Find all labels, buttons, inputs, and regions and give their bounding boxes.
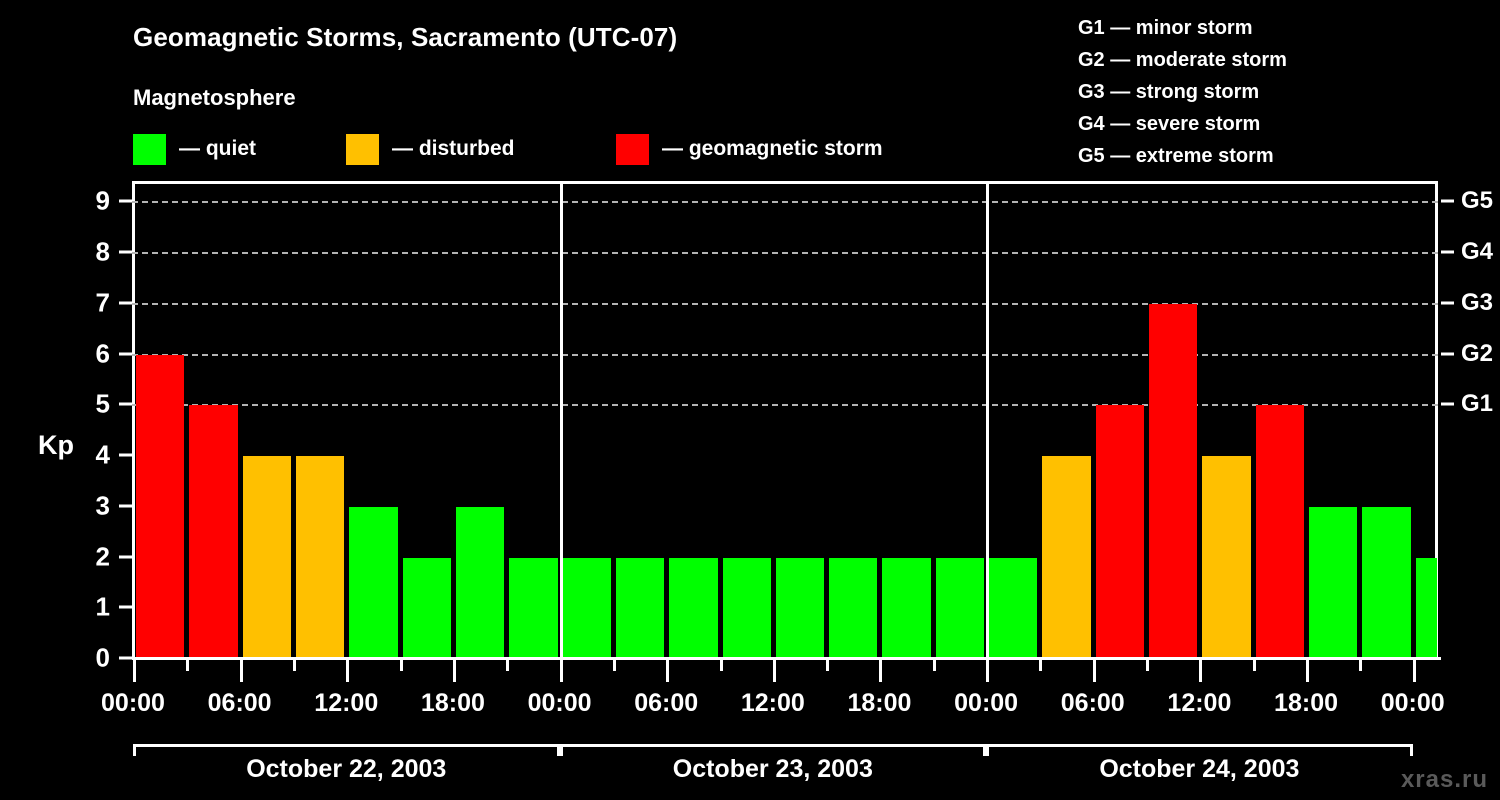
storm-scale-g5: G5 — extreme storm: [1078, 140, 1287, 172]
y-tick-8: [119, 251, 132, 254]
geomagnetic-storm-chart: Geomagnetic Storms, Sacramento (UTC-07) …: [0, 0, 1500, 800]
legend-item-quiet: — quiet: [133, 133, 256, 165]
legend-label-quiet: — quiet: [179, 137, 256, 161]
bar[interactable]: [1202, 456, 1250, 659]
x-tick: [240, 657, 243, 682]
g-axis-label-G3: G3: [1461, 289, 1493, 317]
green-swatch: [133, 134, 166, 165]
bar[interactable]: [616, 558, 664, 659]
bar[interactable]: [243, 456, 291, 659]
x-tick-label: 00:00: [528, 689, 592, 718]
bar[interactable]: [349, 507, 397, 659]
plot-area: [132, 181, 1438, 659]
bar[interactable]: [456, 507, 504, 659]
bar[interactable]: [936, 558, 984, 659]
bar-series: [132, 181, 1438, 659]
x-tick: [453, 657, 456, 682]
x-tick: [1359, 657, 1362, 671]
g-axis-label-G4: G4: [1461, 238, 1493, 266]
day-label: October 22, 2003: [133, 755, 560, 784]
y-tick-6: [119, 352, 132, 355]
storm-scale-g2: G2 — moderate storm: [1078, 44, 1287, 76]
x-axis-line: [132, 657, 1441, 660]
legend-label-disturbed: — disturbed: [392, 137, 515, 161]
x-tick-label: 00:00: [101, 689, 165, 718]
bar[interactable]: [1362, 507, 1410, 659]
bar[interactable]: [669, 558, 717, 659]
x-tick-label: 18:00: [1274, 689, 1338, 718]
y-tick-1: [119, 606, 132, 609]
y-tick-2: [119, 555, 132, 558]
storm-scale-g1: G1 — minor storm: [1078, 12, 1287, 44]
day-label: October 24, 2003: [986, 755, 1413, 784]
bar[interactable]: [1149, 304, 1197, 659]
y-tick-3: [119, 504, 132, 507]
x-tick: [1306, 657, 1309, 682]
x-tick: [1199, 657, 1202, 682]
x-tick: [293, 657, 296, 671]
x-tick: [666, 657, 669, 682]
y-tick-label-5: 5: [96, 389, 110, 420]
x-tick: [560, 657, 563, 682]
storm-scale-g3: G3 — strong storm: [1078, 76, 1287, 108]
bar[interactable]: [723, 558, 771, 659]
x-tick: [613, 657, 616, 671]
g-axis-label-G2: G2: [1461, 340, 1493, 368]
bar[interactable]: [403, 558, 451, 659]
x-tick-label: 18:00: [421, 689, 485, 718]
y-tick-label-7: 7: [96, 287, 110, 318]
g-tick-G2: [1441, 352, 1454, 355]
x-tick: [879, 657, 882, 682]
y-tick-label-1: 1: [96, 592, 110, 623]
x-tick: [1039, 657, 1042, 671]
bar[interactable]: [189, 405, 237, 659]
y-tick-label-4: 4: [96, 440, 110, 471]
bar[interactable]: [882, 558, 930, 659]
bar[interactable]: [1416, 558, 1437, 659]
x-tick-label: 18:00: [847, 689, 911, 718]
x-tick: [720, 657, 723, 671]
watermark: xras.ru: [1401, 766, 1488, 794]
x-tick: [826, 657, 829, 671]
bar[interactable]: [1256, 405, 1304, 659]
x-tick: [1093, 657, 1096, 682]
g-tick-G1: [1441, 403, 1454, 406]
bar[interactable]: [1309, 507, 1357, 659]
bar[interactable]: [989, 558, 1037, 659]
legend-item-disturbed: — disturbed: [346, 133, 515, 165]
x-tick-label: 06:00: [208, 689, 272, 718]
y-tick-5: [119, 403, 132, 406]
orange-swatch: [346, 134, 379, 165]
x-tick: [933, 657, 936, 671]
x-tick-label: 00:00: [1381, 689, 1445, 718]
x-tick-label: 06:00: [1061, 689, 1125, 718]
y-tick-label-9: 9: [96, 186, 110, 217]
red-swatch: [616, 134, 649, 165]
x-tick: [1413, 657, 1416, 682]
bar[interactable]: [1042, 456, 1090, 659]
y-tick-label-8: 8: [96, 237, 110, 268]
bar[interactable]: [1096, 405, 1144, 659]
legend-label-storm: — geomagnetic storm: [662, 137, 883, 161]
y-tick-label-6: 6: [96, 338, 110, 369]
x-tick-label: 12:00: [314, 689, 378, 718]
storm-scale-g4: G4 — severe storm: [1078, 108, 1287, 140]
page-title: Geomagnetic Storms, Sacramento (UTC-07): [133, 22, 677, 53]
x-tick: [773, 657, 776, 682]
x-tick-label: 12:00: [741, 689, 805, 718]
legend-item-storm: — geomagnetic storm: [616, 133, 883, 165]
bar[interactable]: [829, 558, 877, 659]
x-tick: [1253, 657, 1256, 671]
bar[interactable]: [296, 456, 344, 659]
y-tick-label-0: 0: [96, 643, 110, 674]
chart-subtitle: Magnetosphere: [133, 85, 296, 111]
storm-scale-legend: G1 — minor storm G2 — moderate storm G3 …: [1078, 12, 1287, 172]
x-tick: [986, 657, 989, 682]
y-tick-0: [119, 657, 132, 660]
x-tick-label: 12:00: [1167, 689, 1231, 718]
bar[interactable]: [563, 558, 611, 659]
y-tick-7: [119, 301, 132, 304]
x-tick-label: 00:00: [954, 689, 1018, 718]
day-label: October 23, 2003: [560, 755, 987, 784]
x-tick: [506, 657, 509, 671]
g-axis-label-G5: G5: [1461, 187, 1493, 215]
y-tick-9: [119, 200, 132, 203]
y-tick-label-3: 3: [96, 490, 110, 521]
x-tick: [400, 657, 403, 671]
g-tick-G5: [1441, 200, 1454, 203]
g-axis-label-G1: G1: [1461, 390, 1493, 418]
x-tick: [133, 657, 136, 682]
y-tick-4: [119, 454, 132, 457]
bar[interactable]: [136, 355, 184, 659]
y-axis-title: Kp: [38, 430, 74, 461]
bar[interactable]: [776, 558, 824, 659]
g-tick-G4: [1441, 251, 1454, 254]
x-tick: [346, 657, 349, 682]
x-tick: [186, 657, 189, 671]
y-tick-label-2: 2: [96, 541, 110, 572]
g-tick-G3: [1441, 301, 1454, 304]
x-tick: [1146, 657, 1149, 671]
x-tick-label: 06:00: [634, 689, 698, 718]
bar[interactable]: [509, 558, 557, 659]
